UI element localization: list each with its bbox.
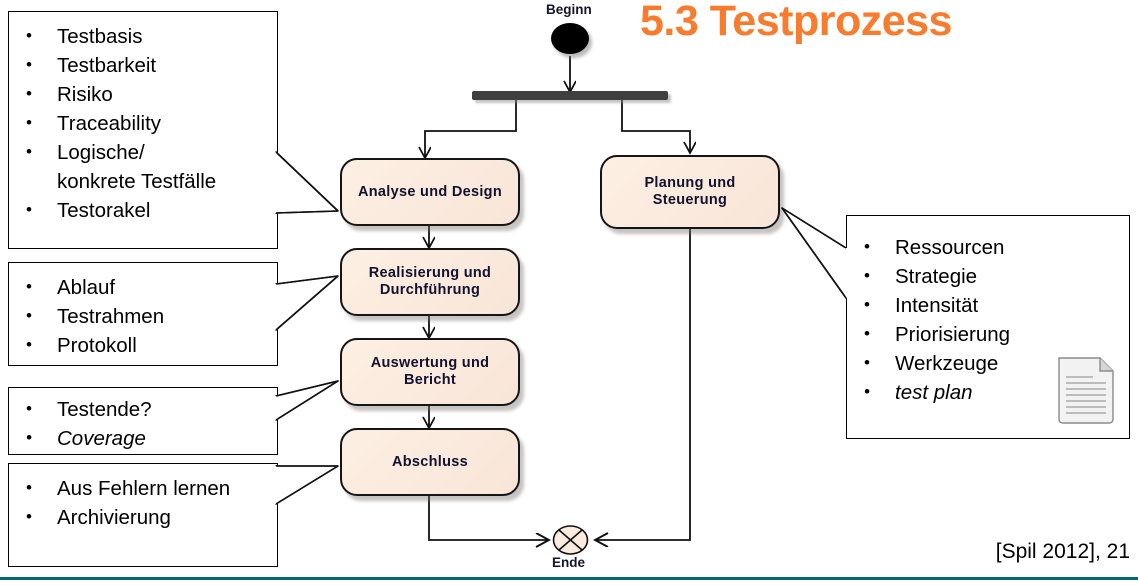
list-item: Testbasis [9, 22, 277, 51]
list-item-continuation: konkrete Testfälle [9, 167, 277, 196]
list-item: Intensität [847, 291, 1129, 320]
page-title: 5.3 Testprozess [640, 0, 952, 45]
callout-abschluss: Aus Fehlern lernen Archivierung [8, 463, 278, 567]
slide-canvas: 5.3 Testprozess Beginn Analyse u [0, 0, 1138, 586]
activity-abschluss[interactable]: Abschluss [340, 428, 520, 496]
list-item: Testrahmen [9, 302, 277, 331]
list-item: Testorakel [9, 196, 277, 225]
activity-label: Abschluss [392, 454, 468, 471]
footer-divider [0, 577, 1138, 580]
activity-label-line1: Realisierung und [369, 265, 491, 282]
fork-bar [472, 91, 668, 100]
end-node-label: Ende [552, 555, 585, 570]
activity-label: Analyse und Design [358, 184, 502, 201]
activity-label: Planung und Steuerung [644, 175, 735, 209]
callout-realisierung: Ablauf Testrahmen Protokoll [8, 262, 278, 366]
activity-label-line1: Planung und [644, 175, 735, 192]
callout-list: Testende? Coverage [9, 395, 277, 453]
list-item: Testende? [9, 395, 277, 424]
start-node-label: Beginn [546, 2, 592, 17]
list-item: Priorisierung [847, 320, 1129, 349]
activity-planung-und-steuerung[interactable]: Planung und Steuerung [600, 155, 780, 229]
activity-auswertung-und-bericht[interactable]: Auswertung und Bericht [340, 338, 520, 406]
list-item: Traceability [9, 109, 277, 138]
list-item: Ablauf [9, 273, 277, 302]
callout-list: Testbasis Testbarkeit Risiko Traceabilit… [9, 22, 277, 225]
document-icon [1055, 353, 1117, 427]
list-item: Strategie [847, 262, 1129, 291]
list-item: Coverage [9, 424, 277, 453]
callout-auswertung: Testende? Coverage [8, 387, 278, 455]
list-item: Protokoll [9, 331, 277, 360]
list-item: Ressourcen [847, 233, 1129, 262]
activity-label-line1: Auswertung und [371, 355, 490, 372]
activity-label-line2: Bericht [371, 372, 490, 389]
callout-analyse: Testbasis Testbarkeit Risiko Traceabilit… [8, 11, 278, 249]
activity-analyse-und-design[interactable]: Analyse und Design [340, 158, 520, 226]
activity-label-line2: Durchführung [369, 282, 491, 299]
callout-planung: Ressourcen Strategie Intensität Priorisi… [846, 215, 1130, 439]
list-item: Aus Fehlern lernen [9, 474, 277, 503]
start-node [551, 23, 589, 54]
callout-list: Ablauf Testrahmen Protokoll [9, 273, 277, 360]
list-item: Risiko [9, 80, 277, 109]
activity-label: Auswertung und Bericht [371, 355, 490, 389]
list-item: Testbarkeit [9, 51, 277, 80]
list-item: Logische/ [9, 138, 277, 167]
activity-label-line2: Steuerung [644, 192, 735, 209]
source-reference: [Spil 2012], 21 [996, 540, 1130, 564]
activity-label: Realisierung und Durchführung [369, 265, 491, 299]
end-node [552, 525, 589, 555]
callout-list: Aus Fehlern lernen Archivierung [9, 474, 277, 532]
list-item: Archivierung [9, 503, 277, 532]
activity-realisierung-und-durchfuehrung[interactable]: Realisierung und Durchführung [340, 248, 520, 316]
